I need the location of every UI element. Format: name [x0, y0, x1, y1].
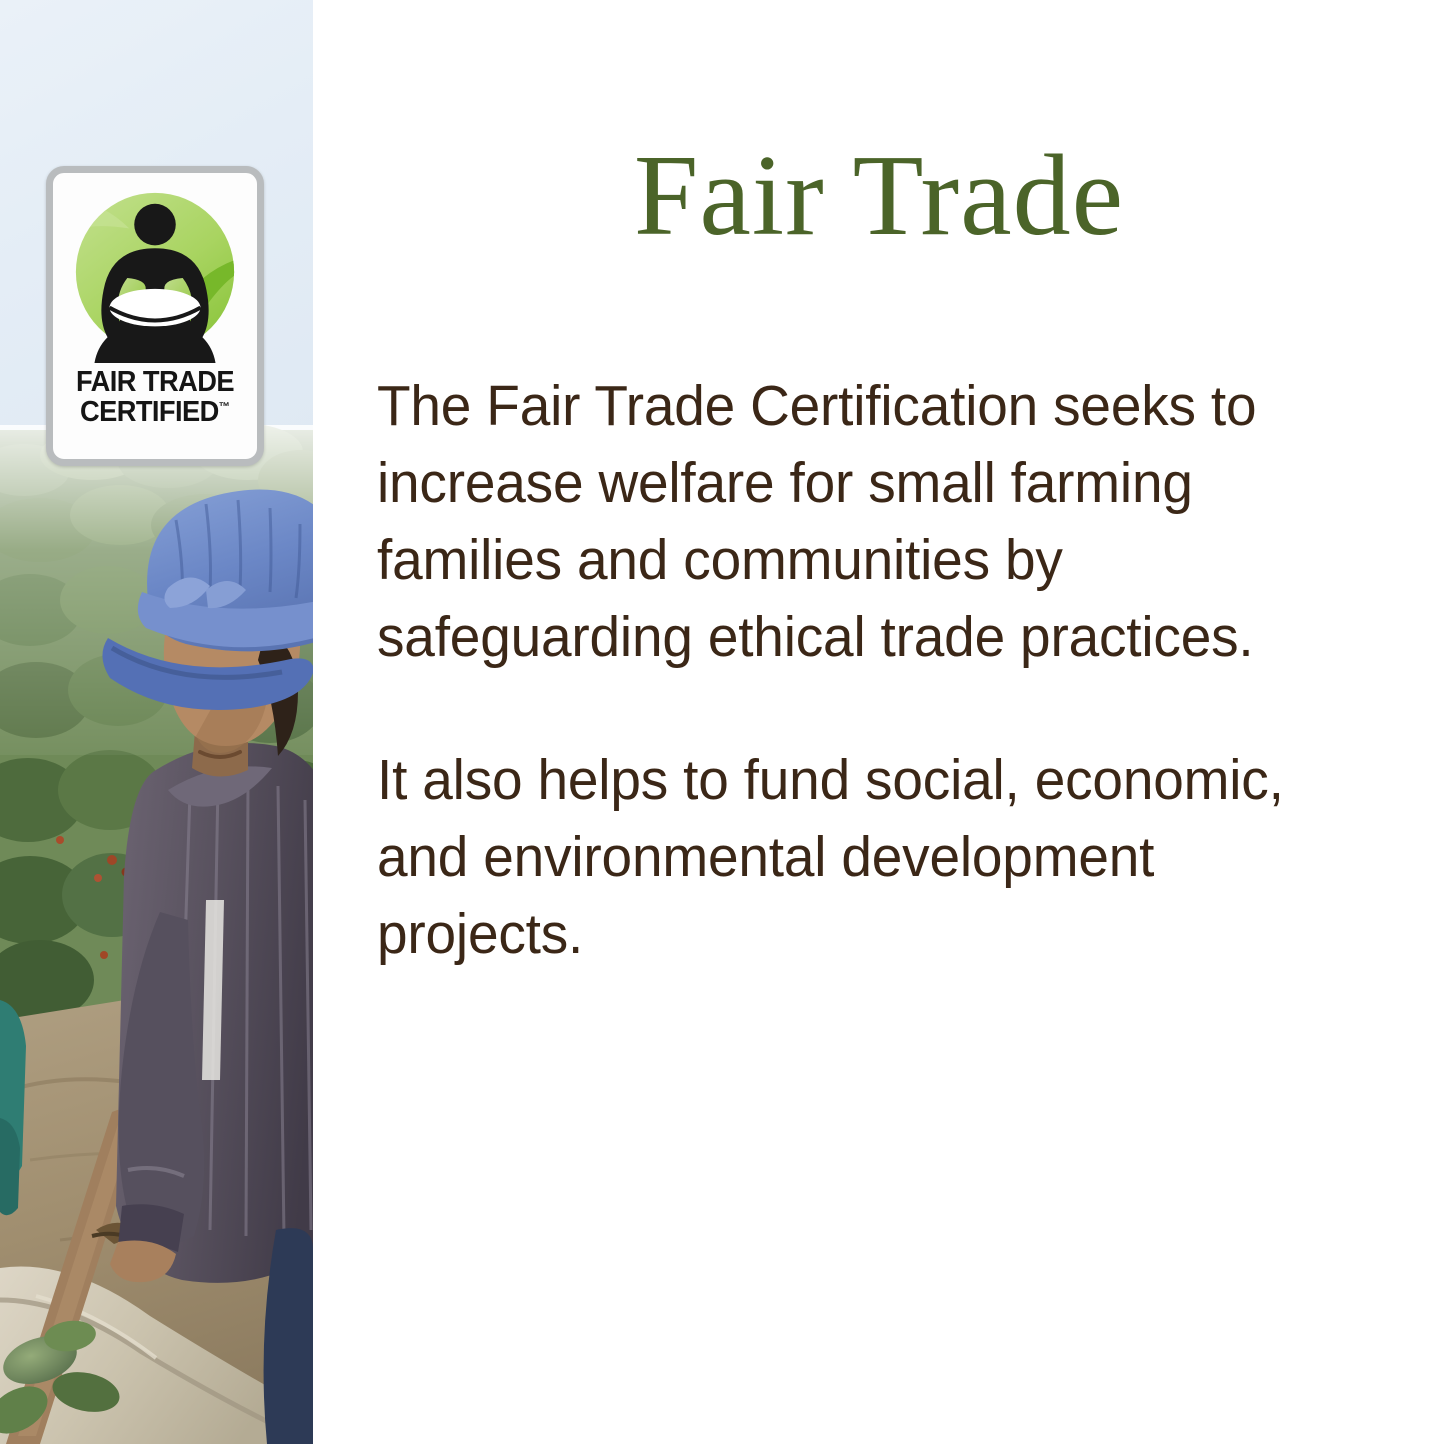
- logo-wordmark: FAIR TRADE CERTIFIED™: [76, 367, 234, 427]
- fair-trade-certified-seal: FAIR TRADE CERTIFIED™: [46, 166, 264, 466]
- page-title: Fair Trade: [313, 138, 1445, 254]
- content-panel: Fair Trade The Fair Trade Certification …: [313, 0, 1445, 1444]
- figure-head: [134, 204, 176, 246]
- coffee-farm-worker-photo: FAIR TRADE CERTIFIED™: [0, 0, 313, 1444]
- fair-trade-info-card: FAIR TRADE CERTIFIED™ Fair Trade The Fai…: [0, 0, 1445, 1444]
- trademark-symbol: ™: [219, 400, 230, 414]
- paragraph-2: It also helps to fund social, economic, …: [377, 742, 1342, 973]
- paragraph-1: The Fair Trade Certification seeks to in…: [377, 368, 1342, 676]
- fair-trade-logo-mark: [66, 185, 244, 363]
- logo-line-2: CERTIFIED: [80, 396, 219, 428]
- logo-line-1: FAIR TRADE: [76, 366, 234, 398]
- body-copy: The Fair Trade Certification seeks to in…: [377, 368, 1377, 973]
